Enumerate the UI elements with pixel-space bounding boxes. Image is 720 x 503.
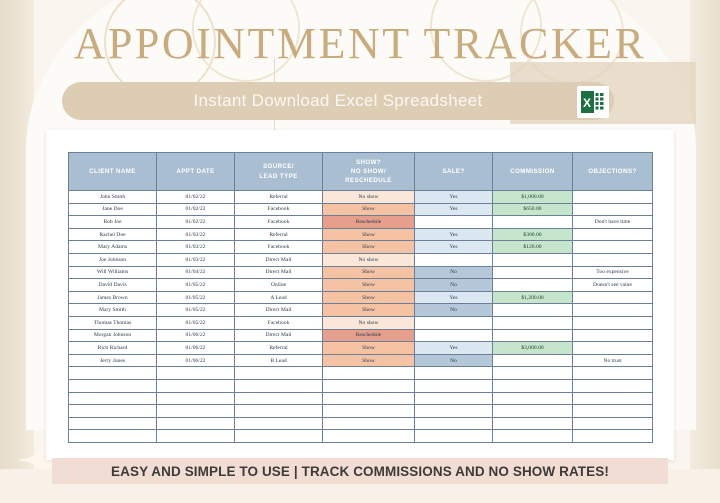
- cell-empty[interactable]: [415, 392, 493, 405]
- cell-commission[interactable]: $1,200.00: [493, 291, 573, 304]
- cell-empty[interactable]: [69, 367, 157, 380]
- cell-empty[interactable]: [323, 379, 415, 392]
- table-header-row: CLIENT NAMEAPPT DATESOURCE/LEAD TYPESHOW…: [69, 153, 653, 191]
- cell-empty[interactable]: [235, 392, 323, 405]
- cell-objection[interactable]: No trust: [573, 354, 653, 367]
- cell-source[interactable]: Facebook: [235, 241, 323, 254]
- cell-empty[interactable]: [493, 430, 573, 443]
- cell-empty[interactable]: [415, 430, 493, 443]
- column-header-4: SALE?: [415, 153, 493, 191]
- footer-banner: EASY AND SIMPLE TO USE | TRACK COMMISSIO…: [52, 458, 668, 484]
- cell-commission[interactable]: [493, 216, 573, 229]
- cell-objection[interactable]: Doesn't see value: [573, 279, 653, 292]
- cell-objection[interactable]: Too expensive: [573, 266, 653, 279]
- cell-sale[interactable]: Yes: [415, 203, 493, 216]
- table-row[interactable]: Will Williams01/04/22Direct MailShowNoTo…: [69, 266, 653, 279]
- cell-empty[interactable]: [415, 379, 493, 392]
- cell-source[interactable]: Referral: [235, 228, 323, 241]
- cell-source[interactable]: Direct Mail: [235, 304, 323, 317]
- cell-client-name[interactable]: Joe Johnson: [69, 253, 157, 266]
- column-header-line: SOURCE/: [236, 162, 321, 171]
- cell-commission[interactable]: $120.00: [493, 241, 573, 254]
- cell-empty[interactable]: [69, 405, 157, 418]
- cell-appt-date[interactable]: 01/06/22: [157, 342, 235, 355]
- column-header-line: RESCHEDULE: [324, 176, 413, 185]
- cell-client-name[interactable]: Rachel Doe: [69, 228, 157, 241]
- cell-empty[interactable]: [235, 367, 323, 380]
- cell-client-name[interactable]: Mary Adams: [69, 241, 157, 254]
- column-header-line: CLIENT NAME: [70, 167, 155, 176]
- cell-sale[interactable]: Yes: [415, 342, 493, 355]
- column-header-line: SALE?: [416, 167, 491, 176]
- cell-appt-date[interactable]: 01/03/22: [157, 241, 235, 254]
- table-row-empty[interactable]: [69, 379, 653, 392]
- cell-empty[interactable]: [493, 367, 573, 380]
- cell-empty[interactable]: [235, 379, 323, 392]
- cell-objection[interactable]: [573, 316, 653, 329]
- cell-empty[interactable]: [323, 417, 415, 430]
- cell-empty[interactable]: [157, 392, 235, 405]
- cell-appt-date[interactable]: 01/05/22: [157, 291, 235, 304]
- cell-empty[interactable]: [493, 417, 573, 430]
- cell-commission[interactable]: [493, 253, 573, 266]
- cell-sale[interactable]: Yes: [415, 228, 493, 241]
- cell-source[interactable]: Online: [235, 279, 323, 292]
- cell-objection[interactable]: Don't have time: [573, 216, 653, 229]
- cell-commission[interactable]: $1,000.00: [493, 191, 573, 204]
- cell-client-name[interactable]: David Davis: [69, 279, 157, 292]
- cell-objection[interactable]: [573, 329, 653, 342]
- cell-empty[interactable]: [573, 392, 653, 405]
- cell-commission[interactable]: [493, 354, 573, 367]
- cell-empty[interactable]: [493, 405, 573, 418]
- cell-sale[interactable]: No: [415, 304, 493, 317]
- column-header-6: OBJECTIONS?: [573, 153, 653, 191]
- cell-sale[interactable]: [415, 329, 493, 342]
- table-row[interactable]: Rachel Doe01/03/22ReferralShowYes$300.00: [69, 228, 653, 241]
- cell-empty[interactable]: [493, 392, 573, 405]
- cell-source[interactable]: Direct Mail: [235, 266, 323, 279]
- column-header-3: SHOW?NO SHOW/RESCHEDULE: [323, 153, 415, 191]
- table-row-empty[interactable]: [69, 392, 653, 405]
- cell-objection[interactable]: [573, 342, 653, 355]
- table-row[interactable]: Mary Adams01/03/22FacebookShowYes$120.00: [69, 241, 653, 254]
- cell-objection[interactable]: [573, 291, 653, 304]
- cell-empty[interactable]: [157, 379, 235, 392]
- table-row[interactable]: Jane Doe01/02/22FacebookShowYes$650.00: [69, 203, 653, 216]
- cell-show-status[interactable]: Show: [323, 241, 415, 254]
- cell-show-status[interactable]: Show: [323, 342, 415, 355]
- cell-source[interactable]: Referral: [235, 191, 323, 204]
- cell-show-status[interactable]: Show: [323, 228, 415, 241]
- cell-empty[interactable]: [573, 417, 653, 430]
- cell-client-name[interactable]: Will Williams: [69, 266, 157, 279]
- subtitle-pill: Instant Download Excel Spreadsheet: [62, 82, 614, 120]
- cell-appt-date[interactable]: 01/05/22: [157, 316, 235, 329]
- table-row-empty[interactable]: [69, 405, 653, 418]
- cell-source[interactable]: Direct Mail: [235, 253, 323, 266]
- column-header-line: SHOW?: [324, 158, 413, 167]
- cell-show-status[interactable]: Show: [323, 304, 415, 317]
- cell-client-name[interactable]: Mary Smith: [69, 304, 157, 317]
- cell-show-status[interactable]: Show: [323, 203, 415, 216]
- table-row[interactable]: John Smith01/02/22ReferralNo showYes$1,0…: [69, 191, 653, 204]
- table-row[interactable]: Mary Smith01/05/22Direct MailShowNo: [69, 304, 653, 317]
- cell-commission[interactable]: $650.00: [493, 203, 573, 216]
- cell-show-status[interactable]: No show: [323, 191, 415, 204]
- cell-client-name[interactable]: Morgan Johnson: [69, 329, 157, 342]
- table-row-empty[interactable]: [69, 417, 653, 430]
- cell-appt-date[interactable]: 01/02/22: [157, 203, 235, 216]
- cell-source[interactable]: Facebook: [235, 316, 323, 329]
- cell-source[interactable]: B Lead: [235, 354, 323, 367]
- cell-source[interactable]: A Lead: [235, 291, 323, 304]
- footer-banner-text: EASY AND SIMPLE TO USE | TRACK COMMISSIO…: [111, 464, 609, 479]
- cell-empty[interactable]: [69, 379, 157, 392]
- cell-empty[interactable]: [235, 405, 323, 418]
- cell-empty[interactable]: [157, 367, 235, 380]
- cell-empty[interactable]: [323, 405, 415, 418]
- cell-sale[interactable]: [415, 216, 493, 229]
- cell-appt-date[interactable]: 01/06/22: [157, 329, 235, 342]
- spreadsheet-panel[interactable]: CLIENT NAMEAPPT DATESOURCE/LEAD TYPESHOW…: [46, 130, 674, 460]
- cell-client-name[interactable]: John Smith: [69, 191, 157, 204]
- cell-client-name[interactable]: Bob Joe: [69, 216, 157, 229]
- cell-empty[interactable]: [415, 367, 493, 380]
- cell-client-name[interactable]: Rich Richard: [69, 342, 157, 355]
- cell-sale[interactable]: No: [415, 279, 493, 292]
- column-header-5: COMMISSION: [493, 153, 573, 191]
- cell-empty[interactable]: [415, 405, 493, 418]
- cell-empty[interactable]: [157, 417, 235, 430]
- cell-objection[interactable]: [573, 304, 653, 317]
- cell-empty[interactable]: [69, 417, 157, 430]
- cell-sale[interactable]: No: [415, 266, 493, 279]
- table-row-empty[interactable]: [69, 430, 653, 443]
- cell-show-status[interactable]: Show: [323, 354, 415, 367]
- cell-empty[interactable]: [157, 405, 235, 418]
- cell-commission[interactable]: $3,000.00: [493, 342, 573, 355]
- column-header-line: OBJECTIONS?: [574, 167, 651, 176]
- table-row[interactable]: Morgan Johnson01/06/22Direct MailResched…: [69, 329, 653, 342]
- cell-show-status[interactable]: No show: [323, 253, 415, 266]
- cell-objection[interactable]: [573, 203, 653, 216]
- cell-show-status[interactable]: Show: [323, 291, 415, 304]
- cell-objection[interactable]: [573, 241, 653, 254]
- cell-source[interactable]: Facebook: [235, 216, 323, 229]
- cell-commission[interactable]: [493, 329, 573, 342]
- cell-appt-date[interactable]: 01/04/22: [157, 266, 235, 279]
- cell-appt-date[interactable]: 01/06/22: [157, 354, 235, 367]
- cell-show-status[interactable]: Reschedule: [323, 329, 415, 342]
- cell-client-name[interactable]: James Brown: [69, 291, 157, 304]
- cell-objection[interactable]: [573, 191, 653, 204]
- subtitle-text: Instant Download Excel Spreadsheet: [194, 91, 483, 111]
- cell-empty[interactable]: [573, 379, 653, 392]
- table-row[interactable]: Bob Joe01/02/22FacebookRescheduleDon't h…: [69, 216, 653, 229]
- cell-sale[interactable]: [415, 316, 493, 329]
- cell-commission[interactable]: [493, 266, 573, 279]
- cell-sale[interactable]: Yes: [415, 291, 493, 304]
- table-body[interactable]: John Smith01/02/22ReferralNo showYes$1,0…: [69, 191, 653, 443]
- cell-appt-date[interactable]: 01/02/22: [157, 191, 235, 204]
- cell-empty[interactable]: [69, 392, 157, 405]
- appointment-table[interactable]: CLIENT NAMEAPPT DATESOURCE/LEAD TYPESHOW…: [68, 152, 653, 443]
- cell-commission[interactable]: [493, 304, 573, 317]
- cell-client-name[interactable]: Thomas Thomas: [69, 316, 157, 329]
- column-header-line: APPT DATE: [158, 167, 233, 176]
- cell-appt-date[interactable]: 01/03/22: [157, 253, 235, 266]
- cell-empty[interactable]: [573, 405, 653, 418]
- table-row[interactable]: Jerry Jones01/06/22B LeadShowNoNo trust: [69, 354, 653, 367]
- cell-empty[interactable]: [157, 430, 235, 443]
- cell-appt-date[interactable]: 01/02/22: [157, 216, 235, 229]
- table-row[interactable]: Thomas Thomas01/05/22FacebookNo show: [69, 316, 653, 329]
- cell-appt-date[interactable]: 01/05/22: [157, 304, 235, 317]
- column-header-line: LEAD TYPE: [236, 172, 321, 181]
- cell-sale[interactable]: No: [415, 354, 493, 367]
- cell-sale[interactable]: [415, 253, 493, 266]
- cell-objection[interactable]: [573, 253, 653, 266]
- table-row[interactable]: James Brown01/05/22A LeadShowYes$1,200.0…: [69, 291, 653, 304]
- cell-empty[interactable]: [493, 379, 573, 392]
- excel-icon: X: [577, 86, 609, 118]
- cell-empty[interactable]: [415, 417, 493, 430]
- column-header-2: SOURCE/LEAD TYPE: [235, 153, 323, 191]
- cell-empty[interactable]: [69, 430, 157, 443]
- cell-source[interactable]: Referral: [235, 342, 323, 355]
- cell-objection[interactable]: [573, 228, 653, 241]
- cell-sale[interactable]: Yes: [415, 191, 493, 204]
- table-row[interactable]: Rich Richard01/06/22ReferralShowYes$3,00…: [69, 342, 653, 355]
- table-row[interactable]: Joe Johnson01/03/22Direct MailNo show: [69, 253, 653, 266]
- cell-source[interactable]: Direct Mail: [235, 329, 323, 342]
- cell-sale[interactable]: Yes: [415, 241, 493, 254]
- cell-commission[interactable]: [493, 279, 573, 292]
- right-accent-panel: [690, 0, 720, 503]
- cell-show-status[interactable]: Show: [323, 279, 415, 292]
- cell-client-name[interactable]: Jane Doe: [69, 203, 157, 216]
- column-header-0: CLIENT NAME: [69, 153, 157, 191]
- cell-client-name[interactable]: Jerry Jones: [69, 354, 157, 367]
- cell-appt-date[interactable]: 01/05/22: [157, 279, 235, 292]
- left-accent-panel: [0, 0, 34, 503]
- cell-empty[interactable]: [323, 392, 415, 405]
- cell-source[interactable]: Facebook: [235, 203, 323, 216]
- table-row[interactable]: David Davis01/05/22OnlineShowNoDoesn't s…: [69, 279, 653, 292]
- cell-empty[interactable]: [323, 367, 415, 380]
- column-header-1: APPT DATE: [157, 153, 235, 191]
- poster-canvas: APPOINTMENT TRACKER Instant Download Exc…: [0, 0, 720, 503]
- svg-text:X: X: [583, 96, 591, 110]
- cell-empty[interactable]: [573, 367, 653, 380]
- cell-empty[interactable]: [235, 430, 323, 443]
- column-header-line: COMMISSION: [494, 167, 571, 176]
- cell-show-status[interactable]: Show: [323, 266, 415, 279]
- table-row-empty[interactable]: [69, 367, 653, 380]
- cell-commission[interactable]: $300.00: [493, 228, 573, 241]
- cell-empty[interactable]: [323, 430, 415, 443]
- cell-commission[interactable]: [493, 316, 573, 329]
- cell-show-status[interactable]: Reschedule: [323, 216, 415, 229]
- cell-empty[interactable]: [235, 417, 323, 430]
- cell-appt-date[interactable]: 01/03/22: [157, 228, 235, 241]
- page-title: APPOINTMENT TRACKER: [0, 18, 720, 69]
- cell-empty[interactable]: [573, 430, 653, 443]
- cell-show-status[interactable]: No show: [323, 316, 415, 329]
- column-header-line: NO SHOW/: [324, 167, 413, 176]
